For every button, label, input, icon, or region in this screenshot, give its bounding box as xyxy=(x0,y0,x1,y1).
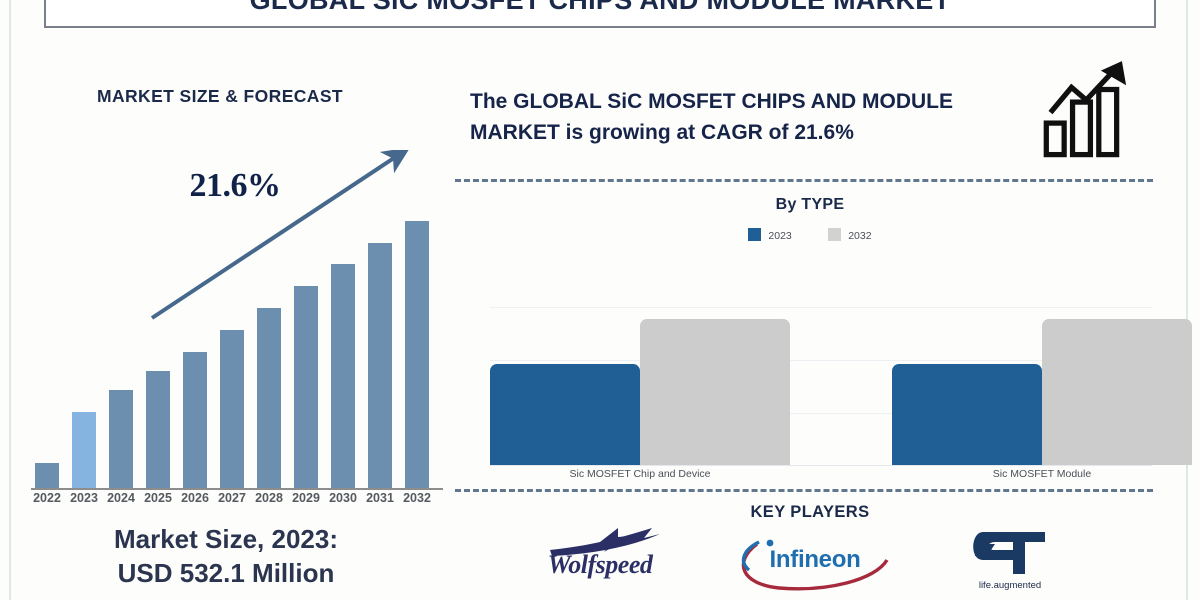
forecast-bar xyxy=(257,308,281,488)
bytype-baseline xyxy=(490,465,1152,466)
logo-wolfspeed-text: Wolfspeed xyxy=(500,550,700,580)
market-size-footer-line1: Market Size, 2023: xyxy=(20,522,432,556)
year-label: 2032 xyxy=(397,491,437,505)
bytype-legend: 2023 2032 xyxy=(470,226,1150,244)
year-label: 2026 xyxy=(175,491,215,505)
forecast-bar xyxy=(183,352,207,488)
market-size-footer-line2: USD 532.1 Million xyxy=(20,556,432,590)
legend-item: 2023 xyxy=(748,228,791,242)
divider-bottom xyxy=(455,489,1153,492)
bytype-category-label: Sic MOSFET Module xyxy=(872,468,1200,480)
legend-label-2032: 2032 xyxy=(848,230,871,242)
infographic-page: GLOBAL SiC MOSFET CHIPS AND MODULE MARKE… xyxy=(0,0,1200,600)
year-label: 2030 xyxy=(323,491,363,505)
forecast-bar xyxy=(405,221,429,488)
market-size-heading: MARKET SIZE & FORECAST xyxy=(20,86,420,107)
year-label: 2028 xyxy=(249,491,289,505)
legend-item: 2032 xyxy=(828,228,871,242)
bytype-title: By TYPE xyxy=(470,196,1150,214)
year-label: 2025 xyxy=(138,491,178,505)
page-frame-left xyxy=(9,0,11,600)
forecast-bar xyxy=(72,412,96,488)
year-label: 2029 xyxy=(286,491,326,505)
market-size-footer: Market Size, 2023: USD 532.1 Million xyxy=(20,522,432,590)
forecast-bar xyxy=(146,371,170,488)
logo-wolfspeed: Wolfspeed xyxy=(500,528,700,598)
year-label: 2031 xyxy=(360,491,400,505)
key-players-logos: Wolfspeed Infineon life.augmented xyxy=(470,528,1150,598)
forecast-bar xyxy=(220,330,244,488)
forecast-bar xyxy=(368,243,392,488)
gridline xyxy=(490,307,1152,308)
year-label: 2024 xyxy=(101,491,141,505)
bytype-bar xyxy=(892,364,1042,465)
logo-st: life.augmented xyxy=(950,528,1070,598)
bytype-category-label: Sic MOSFET Chip and Device xyxy=(470,468,810,480)
chart-arrow-icon xyxy=(1040,58,1145,163)
logo-infineon-text: Infineon xyxy=(735,546,895,574)
st-mark-icon xyxy=(973,530,1047,578)
forecast-bar xyxy=(109,390,133,488)
bytype-chart: Sic MOSFET Chip and DeviceSic MOSFET Mod… xyxy=(460,255,1155,485)
forecast-bar xyxy=(35,463,59,488)
bytype-bar xyxy=(1042,319,1192,465)
chart-axis xyxy=(31,488,443,490)
key-players-title: KEY PLAYERS xyxy=(470,503,1150,522)
page-frame-right xyxy=(1186,0,1188,600)
year-label: 2027 xyxy=(212,491,252,505)
bytype-bar xyxy=(490,364,640,465)
forecast-bar xyxy=(294,286,318,488)
forecast-year-labels: 2022202320242025202620272028202920302031… xyxy=(15,491,445,511)
legend-swatch-2023 xyxy=(748,228,761,241)
logo-st-tagline: life.augmented xyxy=(950,580,1070,591)
logo-infineon: Infineon xyxy=(735,528,895,598)
page-title: GLOBAL SiC MOSFET CHIPS AND MODULE MARKE… xyxy=(44,0,1156,22)
forecast-bar xyxy=(331,264,355,488)
growth-statement: The GLOBAL SiC MOSFET CHIPS AND MODULE M… xyxy=(470,86,1030,148)
legend-swatch-2032 xyxy=(828,228,841,241)
divider-top xyxy=(455,179,1153,182)
market-size-forecast-chart xyxy=(15,150,445,495)
legend-label-2023: 2023 xyxy=(768,230,791,242)
bytype-bar xyxy=(640,319,790,465)
year-label: 2023 xyxy=(64,491,104,505)
year-label: 2022 xyxy=(27,491,67,505)
